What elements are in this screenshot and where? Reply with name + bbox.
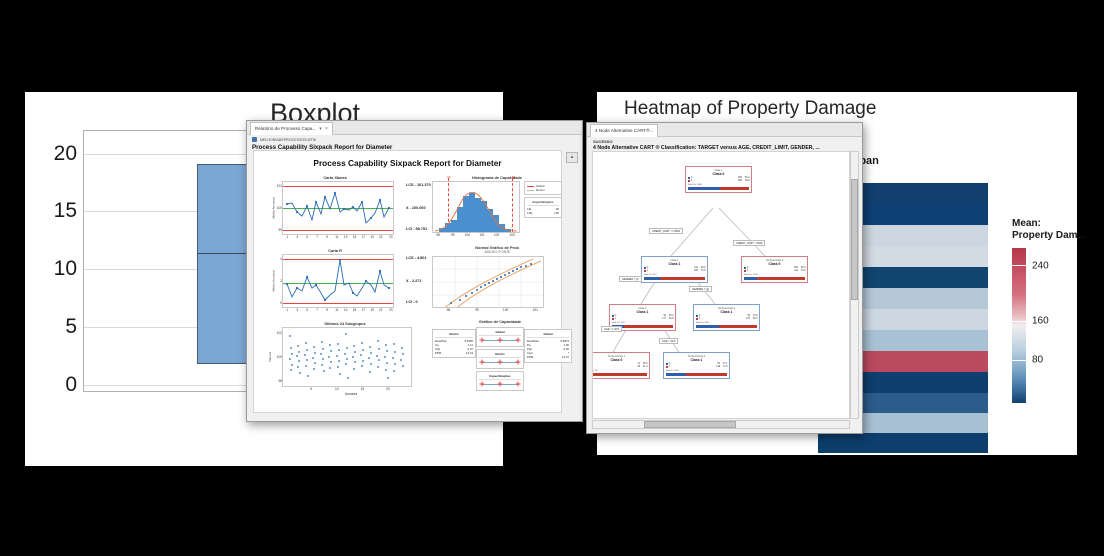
node-table: 016226.5 145073.5 (644, 267, 706, 273)
x-tick: 20 (386, 387, 390, 391)
node-class: Class 0 (592, 358, 648, 362)
x-tick: 21 (379, 308, 383, 312)
node-n: 29 (637, 366, 640, 369)
cap-tick (500, 360, 501, 365)
cap-bar-within: Dentro (476, 349, 524, 369)
node-distribution-bar (696, 325, 758, 328)
x-tick: 5 (306, 235, 308, 239)
x-tick: 1 (287, 308, 289, 312)
worksheet-icon (252, 137, 257, 142)
cart-split-label: GENDER = (f) (619, 276, 642, 282)
x-tick: 99 (451, 233, 455, 237)
cap-bar-title: Global (479, 330, 521, 336)
stat-key: PPM (527, 355, 533, 359)
node-distribution-bar (744, 277, 806, 280)
legend-item: Dentro (527, 188, 559, 192)
node-row: 114872.9 (666, 366, 728, 369)
node-n: 450 (694, 270, 698, 273)
node-pct: 64.8 (669, 318, 673, 321)
x-tick: 98 (436, 233, 440, 237)
node-row: 141433.6 (744, 270, 806, 273)
y-tick: 99 (278, 228, 282, 232)
x-tick: 13 (344, 308, 348, 312)
node-row: 145073.5 (644, 270, 706, 273)
legend-tick-label: 80 (1032, 355, 1043, 366)
worksheet-filename: MELHORIADEPROCESSOS.MTW (260, 138, 316, 142)
scatter-points (283, 328, 411, 386)
x-tick: 7 (316, 235, 318, 239)
y-tick-label: 15 (54, 199, 77, 223)
overall-stats-title: Global (527, 332, 569, 338)
vertical-scrollbar[interactable] (850, 151, 859, 419)
bar-class-0 (696, 325, 720, 328)
node-class-key: 1 (615, 318, 616, 321)
x-tick: 103 (509, 233, 514, 237)
legend-title-line1: Mean: (1012, 218, 1076, 230)
class-swatch-1 (666, 366, 669, 369)
cap-tick (482, 382, 483, 387)
y-tick-label: 5 (65, 315, 77, 339)
bar-class-1 (719, 325, 757, 328)
node-distribution-bar (688, 187, 750, 190)
rchart-series (283, 255, 393, 307)
y-tick: 2 (280, 279, 282, 283)
sixpack-panel-grid: Carta Xbarra Média Amostral 101 100 99 (254, 173, 561, 408)
panel-xbar-chart: Carta Xbarra Média Amostral 101 100 99 (270, 175, 400, 235)
node-n: 273 (746, 318, 750, 321)
close-icon[interactable]: × (325, 123, 328, 135)
x-tick: 15 (353, 308, 357, 312)
node-pct: 46.8 (745, 180, 749, 183)
x-tick: 1 (287, 235, 289, 239)
worksheet-filename-row: MELHORIADEPROCESSOS.MTW (247, 135, 582, 142)
bar-class-1 (592, 373, 647, 376)
x-tick: 13 (344, 235, 348, 239)
rchart-axes: Média Amostral 4 2 0 (282, 254, 394, 308)
x-tick: 102 (494, 233, 499, 237)
node-total: Total N = 70 (592, 370, 648, 373)
legend-swatch-global (527, 186, 534, 187)
xbar-ucl-label: LCS - 101.370 (406, 183, 431, 187)
node-class: Class 1 (696, 310, 758, 314)
node-pct: 80.5 (753, 318, 757, 321)
y-tick: 98 (278, 379, 282, 383)
probplot-series (433, 257, 543, 307)
y-axis-label: Valores (268, 352, 272, 362)
x-tick: 17 (362, 235, 366, 239)
node-class: Class 1 (666, 358, 728, 362)
cart-terminal-node-3[interactable]: Terminal Node 3 Class 0 082066.4 141433.… (741, 256, 808, 283)
cap-bar-line (479, 359, 521, 366)
cap-tick (482, 360, 483, 365)
node-class-key: 1 (647, 270, 648, 273)
node-class-key: 1 (699, 318, 700, 321)
x-tick: 21 (379, 235, 383, 239)
cart-node-2[interactable]: Node 2 Class 1 016226.5 145073.5 Total N… (641, 256, 708, 283)
y-axis-label: Média Amostral (272, 270, 276, 291)
cart-terminal-node-2[interactable]: Terminal Node 2 Class 1 06619.5 127380.5… (693, 304, 760, 331)
heatmap-legend: Mean: Property Dam... 240 160 80 (1012, 218, 1076, 242)
panel-last-subgroups: Últimos 24 Subgrupos Valores 102 100 98 (270, 321, 420, 396)
scrollbar-thumb[interactable] (851, 179, 858, 301)
cart-node-root[interactable]: Node 1 Class 0 098253.2 186446.8 Total N… (685, 166, 752, 193)
rchart-ucl-label: LCS - 4.801 (406, 256, 426, 260)
node-n: 177 (662, 318, 666, 321)
cap-tick (500, 338, 501, 343)
tab-cart-classification[interactable]: 4 Node Alternative CART®... (590, 124, 658, 137)
panel-title: Gráfico de Capacidade (432, 319, 568, 324)
legend-swatch-within (527, 190, 534, 191)
node-n: 148 (716, 366, 720, 369)
cap-bar-line (479, 381, 521, 388)
cap-bar-title: Dentro (479, 352, 521, 358)
y-tick: 100 (277, 206, 282, 210)
legend-label: Dentro (536, 188, 545, 192)
y-tick-label: 0 (65, 373, 77, 397)
window-cart-classification[interactable]: 4 Node Alternative CART®... SUCESSO 4 No… (586, 122, 863, 434)
window-tabbar: Relatório de Processo Capa... ▾ × (247, 121, 582, 135)
node-class-key: 1 (691, 180, 692, 183)
spec-row: LSE100 (527, 211, 559, 215)
node-table: 05527.1 114872.9 (666, 363, 728, 369)
node-total: Total N = 1234 (744, 274, 806, 277)
x-tick: 101 (479, 233, 484, 237)
legend-tick-label: 240 (1032, 261, 1049, 272)
node-total: Total N = 339 (696, 322, 758, 325)
node-distribution-bar (644, 277, 706, 280)
bar-class-0 (644, 277, 661, 280)
histogram-bars (433, 182, 519, 232)
spec-mark-lower: LIE (447, 176, 451, 179)
panel-title: Carta Xbarra (270, 175, 400, 180)
spec-box: Especificações LIE99 LSE100 (524, 197, 562, 218)
x-tick: 100 (503, 308, 508, 312)
cart-split-label: AGE <= 32.5 (601, 326, 622, 332)
cap-bar-title: Especificações (479, 374, 521, 380)
node-table: 098253.2 186446.8 (688, 177, 750, 183)
xbar-lcl-label: LCI - 98.751 (406, 227, 427, 231)
legend-tick-label: 160 (1032, 316, 1049, 327)
tab-process-capability[interactable]: Relatório de Processo Capa... ▾ × (250, 122, 333, 135)
node-n: 414 (794, 270, 798, 273)
panel-subtitle: AD0.201; P 0.878 (432, 250, 562, 254)
cap-bar-line (479, 337, 521, 344)
within-stats-title: Dentro (435, 332, 473, 338)
class-swatch-1 (612, 318, 615, 321)
x-tick: 17 (362, 308, 366, 312)
class-swatch-1 (688, 180, 691, 183)
x-tick: 9 (326, 308, 328, 312)
report-title: Process Capability Sixpack Report for Di… (254, 158, 561, 168)
panel-normal-prob-plot: Normal Gráfico de Prob AD0.201; P 0.878 (432, 245, 562, 308)
last-subgroups-axes: Valores 102 100 98 (282, 327, 412, 387)
x-tick: 19 (370, 235, 374, 239)
cart-terminal-node-4[interactable]: Terminal Node 4 Class 1 05527.1 114872.9… (663, 352, 730, 379)
cart-canvas: Node 1 Class 0 098253.2 186446.8 Total N… (592, 151, 850, 419)
panel-capability-histogram: Histograma de Capacidade LIE LSE (432, 175, 562, 233)
x-tick: 23 (389, 235, 393, 239)
chevron-down-icon[interactable]: ▾ (319, 123, 322, 135)
x-tick: 23 (389, 308, 393, 312)
y-tick: 101 (277, 184, 282, 188)
cap-bar-global: Global (476, 327, 524, 347)
node-class: Class 0 (744, 262, 806, 266)
rchart-lcl-label: LCI - 0 (406, 300, 418, 304)
y-tick-label: 20 (54, 142, 77, 166)
node-table: 09635.2 117764.8 (612, 315, 674, 321)
xbar-axes: Média Amostral 101 100 99 (282, 181, 394, 235)
x-tick: 5 (306, 308, 308, 312)
bar-class-1 (757, 277, 805, 280)
bar-class-0 (666, 373, 686, 376)
node-class: Class 0 (688, 172, 750, 176)
x-tick: 3 (296, 235, 298, 239)
node-class-key: 1 (747, 270, 748, 273)
cart-subtitle: SUCESSO (587, 137, 862, 144)
spec-value: 100 (554, 211, 559, 215)
cap-tick (517, 360, 518, 365)
node-row: 127380.5 (696, 318, 758, 321)
node-total: Total N = 1846 (688, 184, 750, 187)
x-tick: 9 (326, 235, 328, 239)
cap-bar-spec: Especificações (476, 371, 524, 391)
x-tick: 101 (533, 308, 538, 312)
xbar-center-label: X - 100.060 (406, 206, 426, 210)
node-total: Total N = 203 (666, 370, 728, 373)
x-tick: 7 (316, 308, 318, 312)
probplot-axes: 98 99 100 101 (432, 256, 544, 308)
node-total: Total N = 273 (612, 322, 674, 325)
stat-row: PPM12.07 (527, 355, 569, 359)
bar-class-0 (688, 187, 721, 190)
spec-box-title: Especificações (527, 200, 559, 206)
x-tick: 10 (335, 387, 339, 391)
bar-class-1 (624, 325, 674, 328)
legend-tickline (1012, 265, 1026, 266)
node-row: 117764.8 (612, 318, 674, 321)
node-table: 06619.5 127380.5 (696, 315, 758, 321)
legend-tickline (1012, 360, 1026, 361)
within-stats-box: Dentro DesvPad0.9366 Cp1.11 Cpk0.37 PPM1… (432, 329, 476, 358)
heatmap-cell[interactable] (818, 433, 988, 453)
x-tick: 15 (353, 235, 357, 239)
node-n: 864 (738, 180, 742, 183)
y-tick: 102 (277, 331, 282, 335)
bar-class-0 (744, 277, 758, 280)
node-table: 082066.4 141433.6 (744, 267, 806, 273)
x-tick: 100 (465, 233, 470, 237)
node-class: Class 1 (612, 310, 674, 314)
node-row: 186446.8 (688, 180, 750, 183)
panel-title: Carta R (270, 248, 400, 253)
stat-value: 13.43 (466, 351, 473, 355)
cart-terminal-node-1[interactable]: Terminal Node 1 Class 0 04158.6 12941.4 … (592, 352, 650, 379)
cap-tick (482, 338, 483, 343)
node-pct: 72.9 (723, 366, 727, 369)
node-pct: 41.4 (643, 366, 647, 369)
class-swatch-1 (644, 270, 647, 273)
panel-capability-plot: Gráfico de Capacidade Dentro DesvPad0.93… (432, 319, 568, 393)
node-class: Class 1 (644, 262, 706, 266)
x-tick: 3 (296, 308, 298, 312)
report-canvas: Process Capability Sixpack Report for Di… (253, 150, 562, 413)
stat-key: PPM (435, 351, 441, 355)
histogram-legend: Global Dentro (524, 181, 562, 195)
cart-split-label: AGE > 32.5 (659, 338, 678, 344)
node-table: 04158.6 12941.4 (592, 363, 648, 369)
legend-tickline (1012, 321, 1026, 322)
tab-label: 4 Node Alternative CART®... (595, 125, 653, 137)
xbar-series (283, 182, 393, 234)
stat-value: 12.07 (562, 355, 569, 359)
bar-class-1 (660, 277, 705, 280)
horizontal-scrollbar[interactable] (592, 420, 850, 429)
x-tick: 15 (361, 387, 365, 391)
cart-split-label: CREDIT_LIMIT > 5540 (733, 240, 765, 246)
histogram-axes: LIE LSE (432, 181, 520, 233)
tab-label: Relatório de Processo Capa... (255, 123, 316, 135)
rchart-center-label: X - 2.271 (406, 279, 421, 283)
x-tick: 19 (370, 308, 374, 312)
cart-split-label: GENDER = (g) (689, 286, 712, 292)
cap-tick (500, 382, 501, 387)
scroll-up-button[interactable]: ▴ (566, 152, 578, 163)
cap-tick (517, 382, 518, 387)
x-tick: 11 (335, 308, 338, 312)
window-tabbar: 4 Node Alternative CART®... (587, 123, 862, 137)
bar-class-1 (686, 373, 728, 376)
node-total: Total N = 612 (644, 274, 706, 277)
node-pct: 33.6 (801, 270, 805, 273)
presentation-canvas: Boxplot 20 15 10 5 0 (0, 0, 1104, 556)
x-tick: 11 (335, 235, 338, 239)
node-class-key: 1 (669, 366, 670, 369)
class-swatch-1 (696, 318, 699, 321)
x-tick: 5 (310, 387, 312, 391)
scrollbar-thumb[interactable] (644, 421, 736, 428)
overall-stats-box: Global DesvPad0.9873 Pp1.06 Ppk0.36 Cpm*… (524, 329, 572, 363)
y-axis-label: Média Amostral (272, 197, 276, 218)
stat-row: PPM13.43 (435, 351, 473, 355)
node-pct: 73.5 (701, 270, 705, 273)
legend-title-line2: Property Dam... (1012, 230, 1076, 242)
legend-colorbar (1012, 248, 1026, 403)
spec-key: LSE (527, 211, 532, 215)
y-tick: 4 (280, 257, 282, 261)
x-tick: 99 (475, 308, 479, 312)
panel-title: Últimos 24 Subgrupos (270, 321, 420, 326)
cart-split-label: CREDIT_LIMIT <= 5540 (649, 228, 683, 234)
node-row: 12941.4 (592, 366, 648, 369)
x-tick: 98 (447, 308, 451, 312)
panel-r-chart: Carta R Média Amostral 4 2 0 (270, 248, 400, 308)
y-tick: 100 (277, 355, 282, 359)
spec-mark-upper: LSE (510, 176, 515, 179)
x-axis-label: Amostra (282, 392, 420, 396)
page-title-heatmap: Heatmap of Property Damage (624, 98, 876, 120)
node-distribution-bar (592, 373, 648, 376)
y-tick: 0 (280, 301, 282, 305)
bar-class-1 (720, 187, 749, 190)
window-process-capability-report[interactable]: Relatório de Processo Capa... ▾ × MELHOR… (246, 120, 583, 422)
cap-tick (517, 338, 518, 343)
panel-title: Histograma de Capacidade (432, 175, 562, 180)
y-tick-label: 10 (54, 257, 77, 281)
class-swatch-1 (744, 270, 747, 273)
node-distribution-bar (666, 373, 728, 376)
